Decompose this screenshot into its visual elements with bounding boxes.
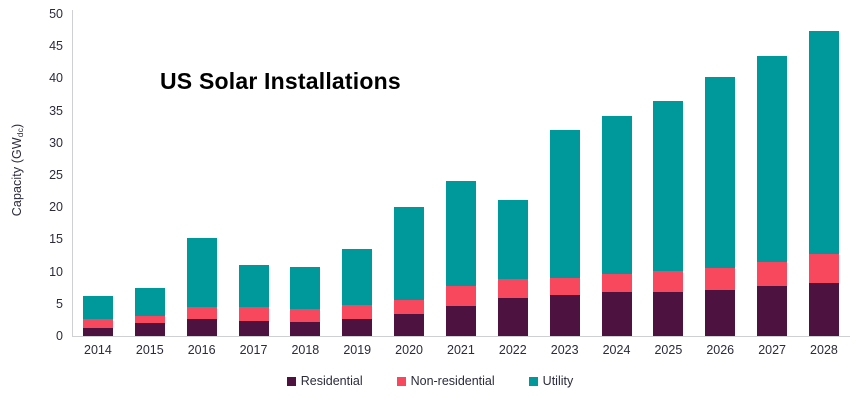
bar-segment-residential[interactable] bbox=[602, 292, 632, 336]
legend-item[interactable]: Utility bbox=[529, 374, 574, 388]
legend-swatch-icon bbox=[529, 377, 538, 386]
bar-segment-residential[interactable] bbox=[290, 322, 320, 336]
bar-group[interactable]: 2024 bbox=[591, 14, 643, 336]
bar-group[interactable]: 2027 bbox=[746, 14, 798, 336]
bar-segment-non-residential[interactable] bbox=[239, 307, 269, 321]
bar-segment-utility[interactable] bbox=[394, 207, 424, 300]
bar-series-group: 2014201520162017201820192020202120222023… bbox=[72, 14, 850, 336]
bar-group[interactable]: 2026 bbox=[694, 14, 746, 336]
legend-label: Utility bbox=[543, 374, 574, 388]
x-axis-tick-label: 2023 bbox=[551, 343, 579, 357]
x-axis-tick-label: 2017 bbox=[240, 343, 268, 357]
bar-segment-residential[interactable] bbox=[342, 319, 372, 336]
bar-segment-non-residential[interactable] bbox=[342, 305, 372, 319]
plot-area: 50454035302520151050 2014201520162017201… bbox=[72, 14, 850, 336]
bar-group[interactable]: 2016 bbox=[176, 14, 228, 336]
stacked-bar[interactable] bbox=[653, 101, 683, 336]
bar-group[interactable]: 2021 bbox=[435, 14, 487, 336]
bar-segment-utility[interactable] bbox=[83, 296, 113, 319]
bar-group[interactable]: 2019 bbox=[331, 14, 383, 336]
bar-segment-utility[interactable] bbox=[653, 101, 683, 271]
x-axis-tick-label: 2015 bbox=[136, 343, 164, 357]
bar-group[interactable]: 2028 bbox=[798, 14, 850, 336]
bar-segment-residential[interactable] bbox=[757, 286, 787, 336]
bar-segment-non-residential[interactable] bbox=[602, 274, 632, 293]
chart-container: Capacity (GWdc) 50454035302520151050 201… bbox=[0, 0, 860, 402]
bar-segment-residential[interactable] bbox=[705, 290, 735, 336]
bar-group[interactable]: 2014 bbox=[72, 14, 124, 336]
bar-segment-residential[interactable] bbox=[498, 298, 528, 336]
stacked-bar[interactable] bbox=[187, 238, 217, 336]
x-axis-tick-label: 2020 bbox=[395, 343, 423, 357]
stacked-bar[interactable] bbox=[705, 77, 735, 336]
bar-segment-utility[interactable] bbox=[705, 77, 735, 268]
x-axis-line bbox=[72, 336, 850, 337]
x-axis-tick-label: 2018 bbox=[291, 343, 319, 357]
y-axis-tick-label: 35 bbox=[49, 104, 63, 118]
chart-title: US Solar Installations bbox=[160, 68, 401, 95]
bar-segment-utility[interactable] bbox=[135, 288, 165, 316]
legend-swatch-icon bbox=[397, 377, 406, 386]
stacked-bar[interactable] bbox=[290, 267, 320, 336]
bar-group[interactable]: 2015 bbox=[124, 14, 176, 336]
y-axis-title-text: Capacity (GWdc) bbox=[10, 124, 24, 216]
bar-segment-residential[interactable] bbox=[550, 295, 580, 336]
y-axis-tick-label: 50 bbox=[49, 7, 63, 21]
bar-segment-utility[interactable] bbox=[187, 238, 217, 307]
x-axis-tick-label: 2026 bbox=[706, 343, 734, 357]
stacked-bar[interactable] bbox=[342, 249, 372, 336]
stacked-bar[interactable] bbox=[239, 265, 269, 336]
y-axis-tick-label: 5 bbox=[56, 297, 63, 311]
chart-legend: ResidentialNon-residentialUtility bbox=[0, 374, 860, 388]
bar-segment-non-residential[interactable] bbox=[809, 254, 839, 283]
bar-group[interactable]: 2023 bbox=[539, 14, 591, 336]
x-axis-tick-label: 2027 bbox=[758, 343, 786, 357]
bar-segment-non-residential[interactable] bbox=[757, 262, 787, 286]
legend-label: Non-residential bbox=[411, 374, 495, 388]
bar-segment-utility[interactable] bbox=[550, 130, 580, 278]
bar-segment-non-residential[interactable] bbox=[446, 286, 476, 306]
stacked-bar[interactable] bbox=[757, 56, 787, 336]
bar-segment-non-residential[interactable] bbox=[187, 307, 217, 319]
y-axis-title-main: Capacity (GW bbox=[10, 137, 24, 216]
bar-segment-residential[interactable] bbox=[187, 319, 217, 336]
y-axis-title-subscript: dc bbox=[15, 128, 25, 137]
bar-segment-non-residential[interactable] bbox=[653, 271, 683, 292]
stacked-bar[interactable] bbox=[809, 31, 839, 336]
bar-group[interactable]: 2022 bbox=[487, 14, 539, 336]
y-axis-tick-label: 40 bbox=[49, 71, 63, 85]
bar-segment-utility[interactable] bbox=[602, 116, 632, 274]
x-axis-tick-label: 2024 bbox=[603, 343, 631, 357]
stacked-bar[interactable] bbox=[550, 130, 580, 336]
bar-segment-non-residential[interactable] bbox=[705, 268, 735, 290]
bar-segment-non-residential[interactable] bbox=[83, 319, 113, 329]
x-axis-tick-label: 2022 bbox=[499, 343, 527, 357]
bar-segment-utility[interactable] bbox=[809, 31, 839, 253]
legend-item[interactable]: Non-residential bbox=[397, 374, 495, 388]
y-axis-tick-label: 0 bbox=[56, 329, 63, 343]
bar-group[interactable]: 2018 bbox=[279, 14, 331, 336]
x-axis-tick-label: 2025 bbox=[654, 343, 682, 357]
stacked-bar[interactable] bbox=[602, 116, 632, 336]
legend-item[interactable]: Residential bbox=[287, 374, 363, 388]
bar-segment-utility[interactable] bbox=[446, 181, 476, 286]
x-axis-tick-label: 2014 bbox=[84, 343, 112, 357]
bar-segment-utility[interactable] bbox=[498, 200, 528, 279]
bar-segment-residential[interactable] bbox=[809, 283, 839, 336]
y-axis-title: Capacity (GWdc) bbox=[4, 0, 30, 340]
bar-segment-non-residential[interactable] bbox=[290, 309, 320, 322]
x-axis-tick-label: 2016 bbox=[188, 343, 216, 357]
bar-segment-residential[interactable] bbox=[653, 292, 683, 336]
y-axis-tick-label: 30 bbox=[49, 136, 63, 150]
bar-segment-residential[interactable] bbox=[239, 321, 269, 336]
bar-segment-residential[interactable] bbox=[83, 328, 113, 336]
bar-segment-utility[interactable] bbox=[290, 267, 320, 309]
bar-group[interactable]: 2017 bbox=[228, 14, 280, 336]
stacked-bar[interactable] bbox=[498, 200, 528, 336]
stacked-bar[interactable] bbox=[446, 181, 476, 336]
bar-segment-utility[interactable] bbox=[342, 249, 372, 305]
bar-group[interactable]: 2020 bbox=[383, 14, 435, 336]
x-axis-tick-label: 2019 bbox=[343, 343, 371, 357]
bar-segment-non-residential[interactable] bbox=[394, 300, 424, 314]
bar-group[interactable]: 2025 bbox=[642, 14, 694, 336]
legend-swatch-icon bbox=[287, 377, 296, 386]
y-axis-tick-label: 15 bbox=[49, 232, 63, 246]
bar-segment-non-residential[interactable] bbox=[135, 316, 165, 323]
bar-segment-residential[interactable] bbox=[135, 323, 165, 336]
legend-label: Residential bbox=[301, 374, 363, 388]
stacked-bar[interactable] bbox=[83, 296, 113, 336]
y-axis-tick-label: 25 bbox=[49, 168, 63, 182]
x-axis-tick-label: 2021 bbox=[447, 343, 475, 357]
y-axis-tick-label: 10 bbox=[49, 265, 63, 279]
bar-segment-non-residential[interactable] bbox=[498, 279, 528, 298]
bar-segment-residential[interactable] bbox=[394, 314, 424, 336]
y-axis-tick-label: 20 bbox=[49, 200, 63, 214]
bar-segment-non-residential[interactable] bbox=[550, 278, 580, 295]
bar-segment-residential[interactable] bbox=[446, 306, 476, 336]
bar-segment-utility[interactable] bbox=[757, 56, 787, 262]
stacked-bar[interactable] bbox=[394, 207, 424, 336]
y-axis-tick-label: 45 bbox=[49, 39, 63, 53]
bar-segment-utility[interactable] bbox=[239, 265, 269, 307]
stacked-bar[interactable] bbox=[135, 288, 165, 336]
x-axis-tick-label: 2028 bbox=[810, 343, 838, 357]
